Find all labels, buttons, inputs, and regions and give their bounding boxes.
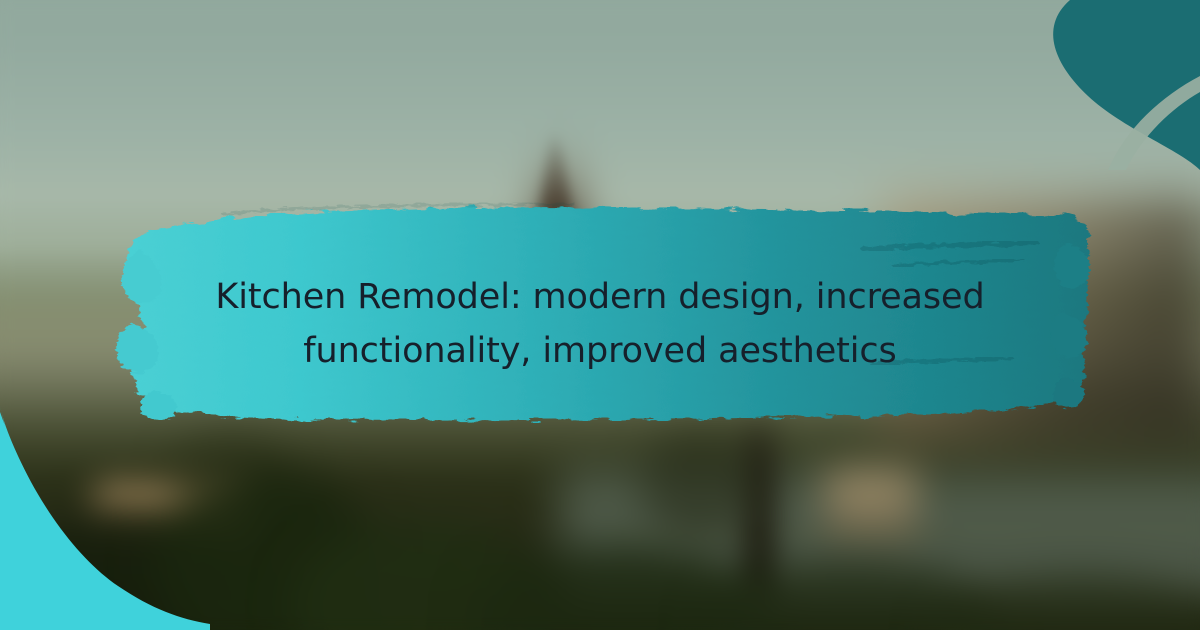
share-card-canvas: Kitchen Remodel: modern design, increase… xyxy=(0,0,1200,630)
headline-text: Kitchen Remodel: modern design, increase… xyxy=(150,270,1050,378)
background-center-building xyxy=(826,470,916,548)
background-foliage-clump xyxy=(640,430,760,540)
